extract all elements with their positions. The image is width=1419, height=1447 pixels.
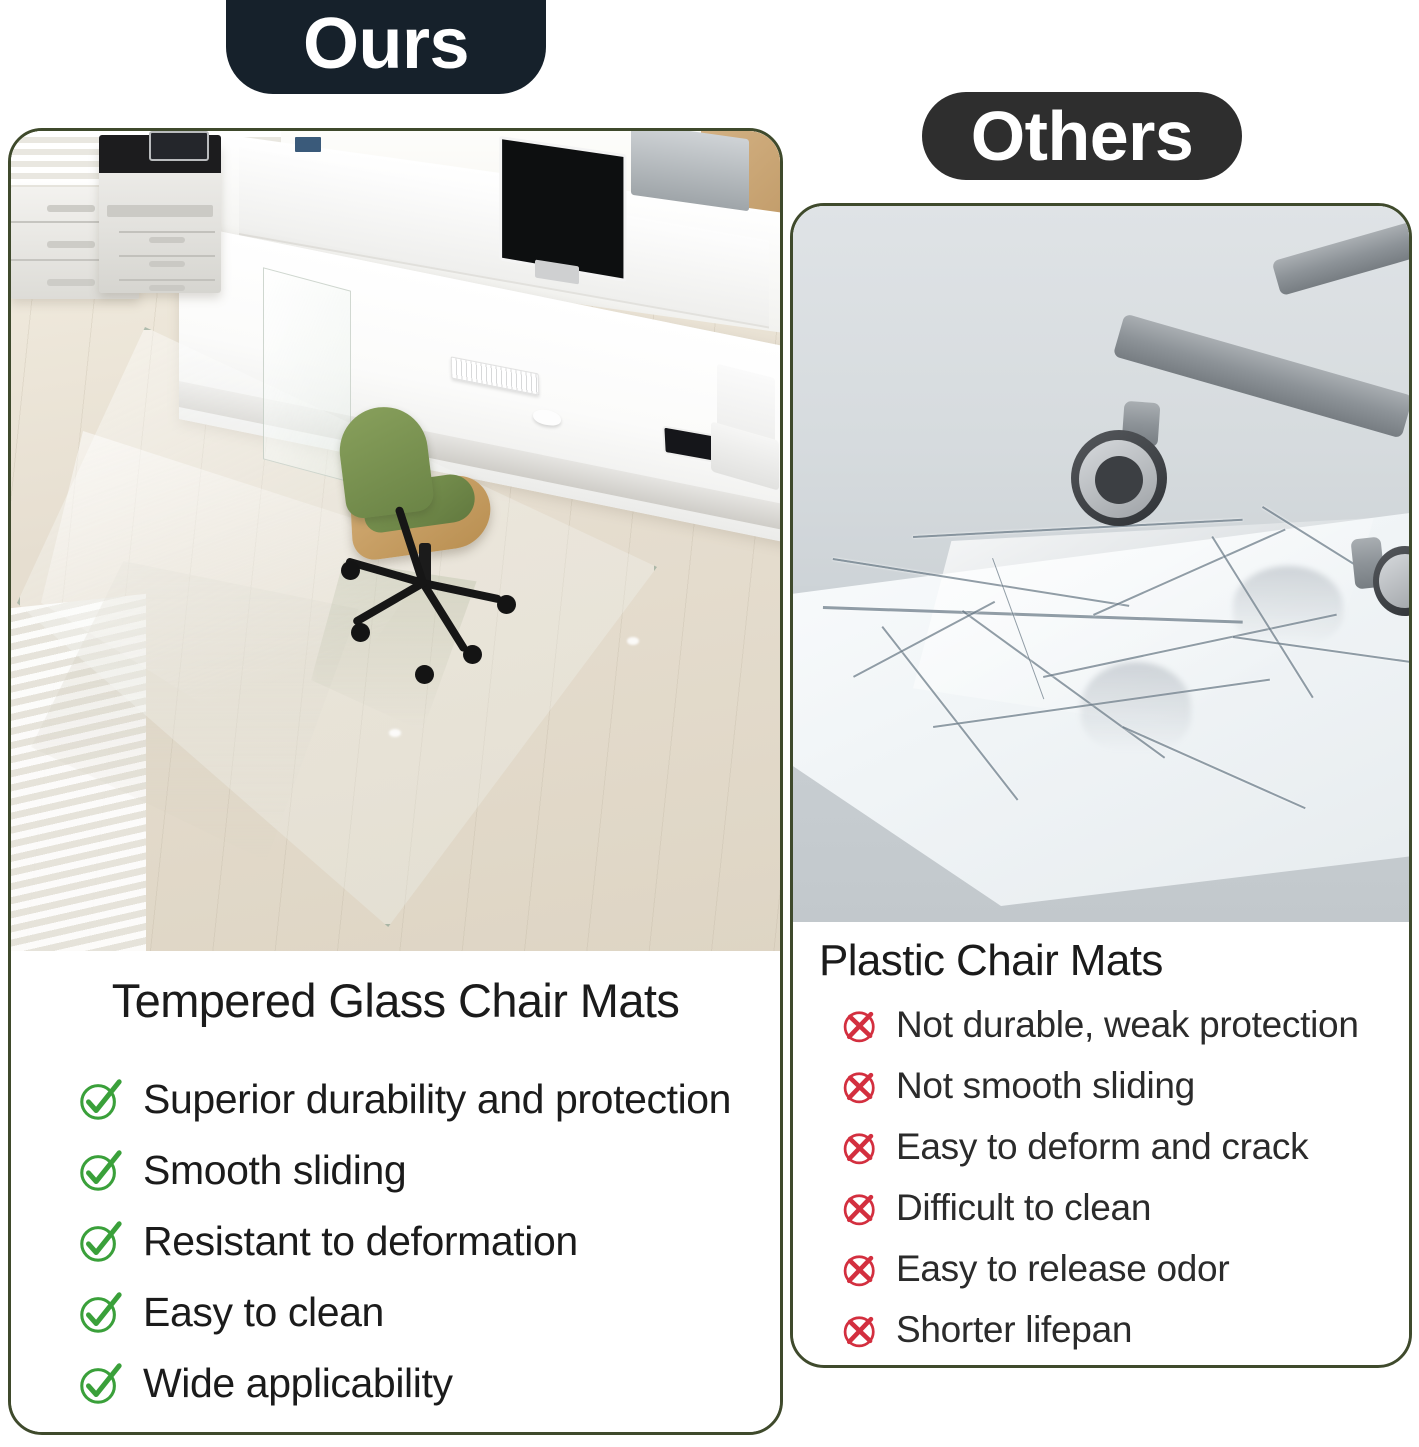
badge-others-label: Others <box>971 101 1194 171</box>
check-circle-icon <box>77 1290 123 1336</box>
chair-caster <box>415 665 434 684</box>
list-item: Not smooth sliding <box>793 1055 1409 1116</box>
ours-feature-list: Superior durability and protection Smoot… <box>11 1064 780 1435</box>
chair-caster <box>341 561 360 580</box>
feature-label: Superior durability and protection <box>143 1076 731 1123</box>
x-circle-icon <box>841 1188 881 1228</box>
feature-label: Easy to release odor <box>896 1248 1229 1290</box>
feature-label: Easy to deform and crack <box>896 1126 1308 1168</box>
others-feature-list: Not durable, weak protection Not smooth … <box>793 994 1409 1360</box>
caster-wheel-hub <box>1095 456 1143 504</box>
badge-ours: Ours <box>226 0 546 94</box>
copier-drawer-seam <box>119 255 215 257</box>
feature-label: Wide applicability <box>143 1360 453 1407</box>
list-item: Superior durability and protection <box>11 1064 780 1135</box>
check-circle-icon <box>77 1077 123 1123</box>
check-circle-icon <box>77 1148 123 1194</box>
list-item: Easy to clean <box>11 1277 780 1348</box>
feature-label: Shorter lifepan <box>896 1309 1132 1351</box>
list-item: Resistant to deformation <box>11 1206 780 1277</box>
list-item: Wide applicability <box>11 1348 780 1419</box>
copier-drawer-handle <box>149 237 185 243</box>
others-product-photo <box>793 206 1409 922</box>
others-card-title: Plastic Chair Mats <box>819 936 1409 986</box>
check-circle-icon <box>77 1219 123 1265</box>
ours-card-title: Tempered Glass Chair Mats <box>11 973 780 1028</box>
comparison-card-ours: Tempered Glass Chair Mats Superior durab… <box>8 128 783 1435</box>
copier-drawer-handle <box>149 285 185 291</box>
ours-product-photo <box>11 131 780 951</box>
badge-others: Others <box>922 92 1242 180</box>
copier-drawer-handle <box>149 261 185 267</box>
x-circle-icon <box>841 1066 881 1106</box>
caster-reflection <box>1233 566 1343 646</box>
feature-label: Difficult to clean <box>896 1187 1151 1229</box>
others-text-block: Plastic Chair Mats Not durable, weak pro… <box>793 922 1409 1360</box>
list-item: Easy to release odor <box>793 1238 1409 1299</box>
badge-ours-label: Ours <box>303 8 469 80</box>
monitor-screen <box>499 136 626 282</box>
list-item: Shorter lifepan <box>793 1299 1409 1360</box>
feature-label: Not smooth sliding <box>896 1065 1195 1107</box>
feature-label: Easy to clean <box>143 1289 384 1336</box>
list-item: Difficult to clean <box>793 1177 1409 1238</box>
feature-label: Not durable, weak protection <box>896 1004 1359 1046</box>
copier-drawer-seam <box>119 279 215 281</box>
copier-screen <box>295 137 321 152</box>
ours-text-block: Tempered Glass Chair Mats Superior durab… <box>11 951 780 1435</box>
glass-mat-anti-slip-dot <box>389 729 401 737</box>
list-item: Easy to deform and crack <box>793 1116 1409 1177</box>
chair-caster <box>463 645 482 664</box>
comparison-card-others: Plastic Chair Mats Not durable, weak pro… <box>790 203 1412 1368</box>
copier-output-tray <box>107 205 213 217</box>
copier-control-panel <box>149 131 209 161</box>
glass-mat-anti-slip-dot <box>627 637 639 645</box>
drawer-handle <box>47 205 95 212</box>
x-circle-icon <box>841 1005 881 1045</box>
copier-drawer-seam <box>119 231 215 233</box>
chair-caster <box>497 595 516 614</box>
check-circle-icon <box>77 1432 123 1436</box>
chair-caster <box>351 623 370 642</box>
feature-label: Longer-lasting <box>143 1431 397 1435</box>
acrylic-panel <box>263 267 351 483</box>
list-item: Not durable, weak protection <box>793 994 1409 1055</box>
feature-label: Smooth sliding <box>143 1147 406 1194</box>
caster-reflection <box>1081 662 1191 752</box>
check-circle-icon <box>77 1361 123 1407</box>
drawer-handle <box>47 241 95 248</box>
list-item: Smooth sliding <box>11 1135 780 1206</box>
x-circle-icon <box>841 1310 881 1350</box>
x-circle-icon <box>841 1127 881 1167</box>
feature-label: Resistant to deformation <box>143 1218 578 1265</box>
drawer-handle <box>47 279 95 286</box>
x-circle-icon <box>841 1249 881 1289</box>
list-item: Longer-lasting <box>11 1419 780 1435</box>
